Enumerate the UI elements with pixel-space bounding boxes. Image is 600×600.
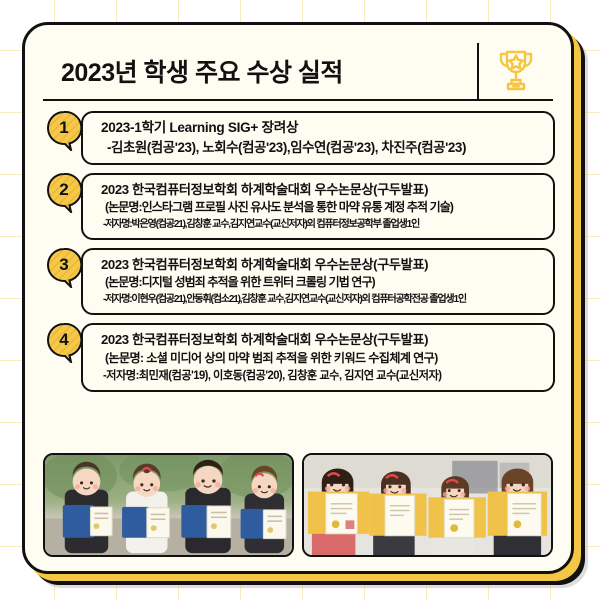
- award-title: 2023 한국컴퓨터정보학회 하계학술대회 우수논문상(구두발표): [101, 180, 543, 199]
- poster-header: 2023년 학생 주요 수상 실적: [43, 43, 553, 101]
- award-title: 2023-1학기 Learning SIG+ 장려상: [101, 118, 543, 138]
- award-item: 4 2023 한국컴퓨터정보학회 하계학술대회 우수논문상(구두발표) (논문명…: [47, 323, 555, 392]
- award-box: 2023 한국컴퓨터정보학회 하계학술대회 우수논문상(구두발표) (논문명: …: [81, 323, 555, 392]
- award-item: 1 2023-1학기 Learning SIG+ 장려상 -김초원(컴공'23)…: [47, 111, 555, 165]
- photo-strip: [43, 453, 553, 557]
- award-poster-card: 2023년 학생 주요 수상 실적: [22, 22, 574, 574]
- award-title: 2023 한국컴퓨터정보학회 하계학술대회 우수논문상(구두발표): [101, 255, 543, 274]
- award-number-bubble-4: 4: [47, 323, 85, 361]
- photo-indoor-four-students-yellow-certificates: [302, 453, 553, 557]
- award-item: 3 2023 한국컴퓨터정보학회 하계학술대회 우수논문상(구두발표) (논문명…: [47, 248, 555, 315]
- award-box: 2023 한국컴퓨터정보학회 하계학술대회 우수논문상(구두발표) (논문명:디…: [81, 248, 555, 315]
- award-number-bubble-3: 3: [47, 248, 85, 286]
- award-list: 1 2023-1학기 Learning SIG+ 장려상 -김초원(컴공'23)…: [41, 111, 555, 392]
- award-number-bubble-2: 2: [47, 173, 85, 211]
- award-box: 2023-1학기 Learning SIG+ 장려상 -김초원(컴공'23), …: [81, 111, 555, 165]
- award-authors: -저자명:박은영(컴공21),김창훈 교수,김지연교수(교신저자)외 컴퓨터정보…: [101, 217, 530, 233]
- award-title: 2023 한국컴퓨터정보학회 하계학술대회 우수논문상(구두발표): [101, 330, 543, 349]
- trophy-icon: [479, 48, 553, 94]
- award-paper-title: (논문명: 소셜 미디어 상의 마약 범죄 추적을 위한 키워드 수집체계 연구…: [101, 350, 543, 368]
- award-item: 2 2023 한국컴퓨터정보학회 하계학술대회 우수논문상(구두발표) (논문명…: [47, 173, 555, 240]
- award-authors: -저자명:이현우(컴공21),안동휘(컴소21),김창훈 교수,김지연교수(교신…: [101, 292, 530, 308]
- photo-outdoor-four-students-blue-certificates: [43, 453, 294, 557]
- award-box: 2023 한국컴퓨터정보학회 하계학술대회 우수논문상(구두발표) (논문명:인…: [81, 173, 555, 240]
- award-paper-title: (논문명:인스타그램 프로필 사진 유사도 분석을 통한 마약 유통 계정 추적…: [101, 199, 543, 216]
- award-authors: -저자명:최민재(컴공'19), 이호동(컴공'20), 김창훈 교수, 김지연…: [101, 367, 530, 384]
- award-authors: -김초원(컴공'23), 노회수(컴공'23),임수연(컴공'23), 차진주(…: [101, 138, 543, 157]
- award-number-bubble-1: 1: [47, 111, 85, 149]
- award-paper-title: (논문명:디지털 성범죄 추적을 위한 트위터 크롤링 기법 연구): [101, 274, 543, 291]
- page-title: 2023년 학생 주요 수상 실적: [43, 53, 477, 89]
